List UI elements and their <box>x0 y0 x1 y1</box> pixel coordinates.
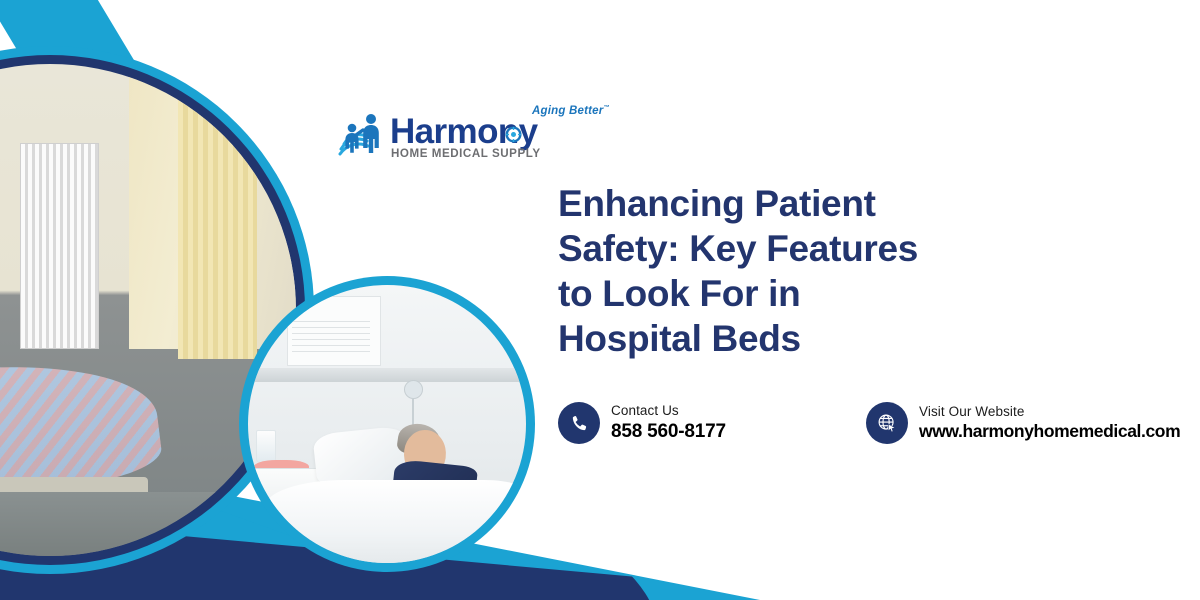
contact-row: Contact Us 858 560-8177 Visit <box>558 402 1178 452</box>
wall-outlet <box>404 380 423 399</box>
contact-website-label: Visit Our Website <box>919 404 1180 421</box>
contact-website-text: Visit Our Website www.harmonyhomemedical… <box>919 404 1180 443</box>
headline-line-4: Hospital Beds <box>558 316 1028 361</box>
page-title: Enhancing Patient Safety: Key Features t… <box>558 181 1028 362</box>
contact-phone-block[interactable]: Contact Us 858 560-8177 <box>558 402 726 444</box>
logo-tagline-text: Aging Better <box>532 105 603 117</box>
brand-logo[interactable]: Aging Better™ Harmony HOME MEDICAL SUPPL <box>334 104 549 166</box>
promo-banner: Aging Better™ Harmony HOME MEDICAL SUPPL <box>0 0 1200 600</box>
two-people-helping-icon <box>334 108 386 160</box>
hospital-room-photo-2 <box>248 285 526 563</box>
white-blanket <box>265 480 526 563</box>
wall-panel-lines <box>292 316 370 355</box>
contact-phone-text: Contact Us 858 560-8177 <box>611 403 726 444</box>
contact-phone-label: Contact Us <box>611 403 726 420</box>
hospital-room-scene-2 <box>248 285 526 563</box>
logo-tagline: Aging Better™ <box>532 105 610 117</box>
headline-line-3: to Look For in <box>558 271 1028 316</box>
starburst-icon <box>505 126 522 143</box>
window-curtain <box>178 84 257 360</box>
water-bottle <box>256 430 275 463</box>
radiator <box>20 143 99 350</box>
headline-line-2: Safety: Key Features <box>558 226 1028 271</box>
contact-website-url[interactable]: www.harmonyhomemedical.com <box>919 421 1180 443</box>
logo-subtitle: HOME MEDICAL SUPPLY <box>391 147 541 160</box>
trademark-symbol: ™ <box>603 105 609 111</box>
hero-photo-small <box>239 276 535 572</box>
globe-cursor-icon <box>866 402 908 444</box>
phone-icon <box>558 402 600 444</box>
contact-website-block[interactable]: Visit Our Website www.harmonyhomemedical… <box>866 402 1180 444</box>
wall-band <box>248 368 526 382</box>
headline-line-1: Enhancing Patient <box>558 181 1028 226</box>
contact-phone-number[interactable]: 858 560-8177 <box>611 420 726 444</box>
